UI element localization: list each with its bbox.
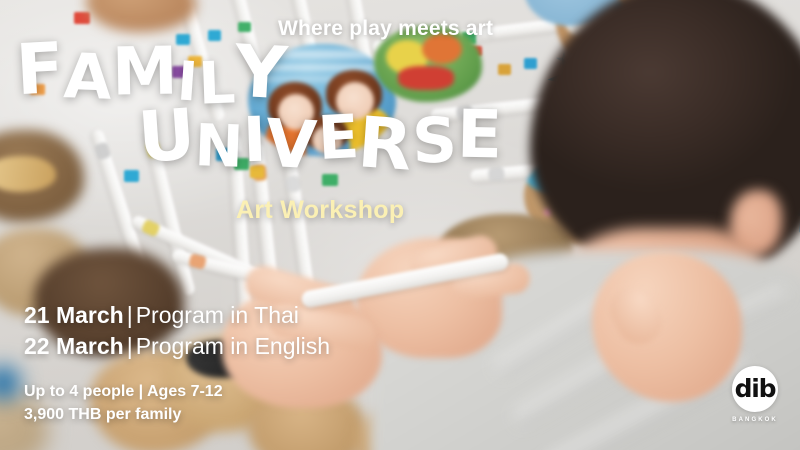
schedule-row: 21 March|Program in Thai: [24, 300, 330, 331]
poster-subtitle: Art Workshop: [236, 196, 404, 225]
logo-city-label: BANGKOK: [726, 417, 784, 423]
logo-wordmark: dib: [732, 366, 778, 412]
details-list: Up to 4 people | Ages 7-12 3,900 THB per…: [24, 380, 223, 426]
schedule-program: Program in English: [136, 333, 330, 359]
schedule-list: 21 March|Program in Thai 22 March|Progra…: [24, 300, 330, 361]
promo-poster: Where play meets art FAMILY UNIVERSE Art…: [0, 0, 800, 450]
title-line-family: FAMILY: [16, 36, 287, 98]
schedule-day: 22 March: [24, 333, 124, 359]
logo-badge: dib: [732, 366, 778, 412]
schedule-separator: |: [124, 333, 136, 359]
poster-text-layer: Where play meets art FAMILY UNIVERSE Art…: [0, 0, 800, 450]
brand-logo: dib BANGKOK: [726, 366, 784, 423]
schedule-row: 22 March|Program in English: [24, 331, 330, 362]
detail-row-capacity: Up to 4 people | Ages 7-12: [24, 380, 223, 403]
detail-row-price: 3,900 THB per family: [24, 403, 223, 426]
schedule-day: 21 March: [24, 302, 124, 328]
schedule-separator: |: [124, 302, 136, 328]
poster-title: FAMILY UNIVERSE: [0, 36, 470, 186]
schedule-program: Program in Thai: [136, 302, 299, 328]
title-line-universe: UNIVERSE: [138, 102, 502, 163]
